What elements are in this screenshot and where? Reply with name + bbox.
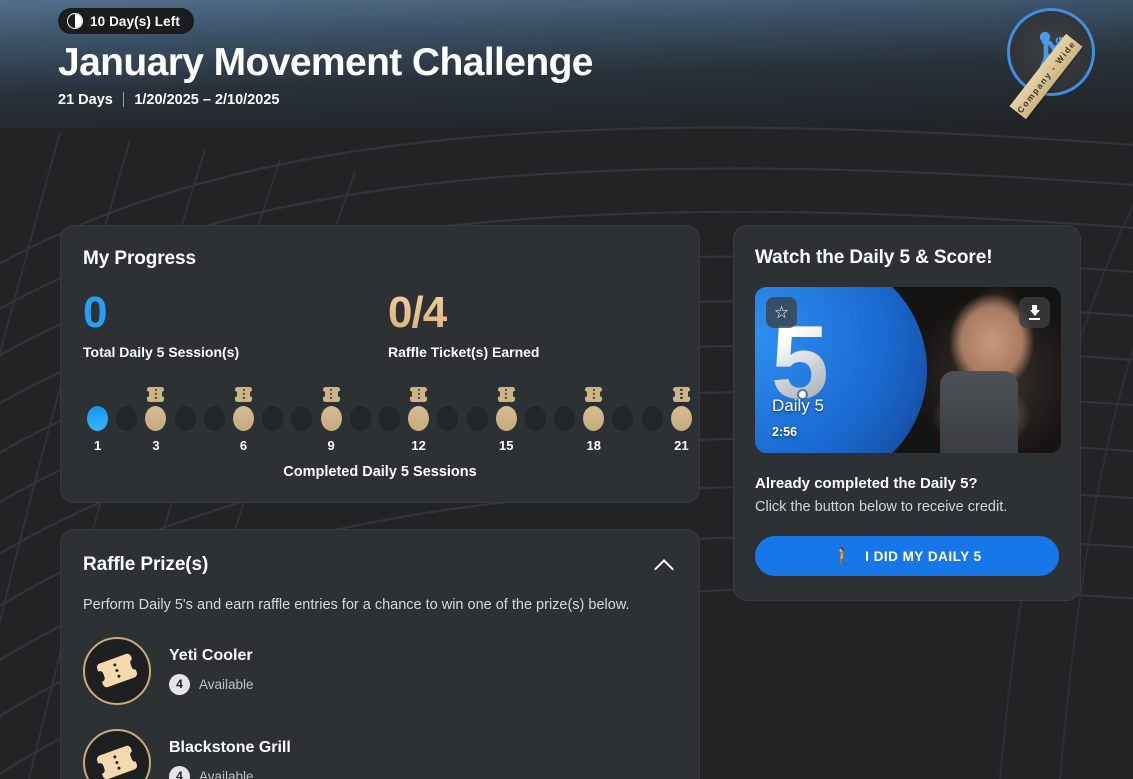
- milestone-ticket-icon: [323, 387, 340, 402]
- chevron-up-icon[interactable]: [651, 552, 677, 578]
- milestone-ticket-icon: [498, 387, 515, 402]
- prize-count-badge: 4: [169, 766, 190, 779]
- session-number-label: 1: [94, 438, 101, 453]
- sessions-label: Total Daily 5 Session(s): [83, 344, 388, 360]
- video-duration: 2:56: [772, 425, 797, 439]
- sessions-value: 0: [83, 292, 388, 334]
- session-number-label: 3: [152, 438, 159, 453]
- session-number-row: 1.3..6..9..12..15..18..21: [83, 438, 677, 453]
- challenge-duration: 21 Days: [58, 92, 113, 108]
- challenge-page: 10 Day(s) Left January Movement Challeng…: [0, 0, 1133, 779]
- prize-info: Blackstone Grill4Available: [169, 739, 291, 779]
- raffle-ticket-icon: [96, 745, 138, 779]
- session-dot: [554, 406, 575, 431]
- progress-track: 1.3..6..9..12..15..18..21 Completed Dail…: [83, 382, 677, 480]
- video-label: Daily 5: [772, 396, 824, 416]
- challenge-meta: 21 Days 1/20/2025 – 2/10/2025: [58, 92, 1133, 108]
- tickets-value: 0/4: [388, 292, 539, 334]
- prize-availability: 4Available: [169, 766, 291, 779]
- days-left-label: 10 Day(s) Left: [90, 14, 180, 29]
- session-dot: [116, 406, 137, 431]
- session-dot: [233, 406, 254, 431]
- prize-availability-label: Available: [199, 677, 254, 692]
- left-column: My Progress 0 Total Daily 5 Session(s) 0…: [60, 225, 700, 779]
- session-dot: [204, 406, 225, 431]
- my-progress-title: My Progress: [83, 248, 677, 270]
- session-dot: [583, 406, 604, 431]
- raffle-title: Raffle Prize(s): [83, 554, 208, 576]
- raffle-ticket-icon: [96, 653, 138, 689]
- session-dot: [262, 406, 283, 431]
- challenge-logo-badge: Company - Wide: [1007, 8, 1095, 96]
- raffle-header[interactable]: Raffle Prize(s): [83, 552, 677, 578]
- prize-medal: [83, 637, 151, 705]
- my-progress-card: My Progress 0 Total Daily 5 Session(s) 0…: [60, 225, 700, 503]
- session-number-label: 6: [240, 438, 247, 453]
- download-icon[interactable]: [1019, 297, 1050, 328]
- raffle-description: Perform Daily 5's and earn raffle entrie…: [83, 597, 677, 613]
- prize-availability: 4Available: [169, 674, 254, 695]
- session-number-label: 21: [674, 438, 688, 453]
- session-dot: [525, 406, 546, 431]
- session-number-label: 9: [327, 438, 334, 453]
- download-glyph: [1027, 305, 1042, 320]
- session-dot: [379, 406, 400, 431]
- milestone-ticket-icon: [410, 387, 427, 402]
- session-dot: [408, 406, 429, 431]
- progress-stats: 0 Total Daily 5 Session(s) 0/4 Raffle Ti…: [83, 292, 677, 360]
- prize-count-badge: 4: [169, 674, 190, 695]
- watch-question: Already completed the Daily 5?: [755, 475, 1059, 492]
- milestone-ticket-row: [83, 382, 677, 402]
- session-dot-row: [83, 406, 677, 431]
- page-header: 10 Day(s) Left January Movement Challeng…: [0, 0, 1133, 128]
- prize-list-item: Yeti Cooler4Available: [83, 637, 677, 705]
- prize-list-item: Blackstone Grill4Available: [83, 729, 677, 779]
- raffle-prizes-card: Raffle Prize(s) Perform Daily 5's and ea…: [60, 529, 700, 779]
- session-dot: [642, 406, 663, 431]
- prize-medal: [83, 729, 151, 779]
- session-dot: [350, 406, 371, 431]
- session-dot: [321, 406, 342, 431]
- walking-person-icon: 🚶: [832, 548, 854, 565]
- milestone-ticket-icon: [147, 387, 164, 402]
- page-title: January Movement Challenge: [58, 43, 1133, 84]
- session-dot: [437, 406, 458, 431]
- star-glyph: ☆: [774, 304, 789, 321]
- prize-availability-label: Available: [199, 769, 254, 779]
- prize-list: Yeti Cooler4AvailableBlackstone Grill4Av…: [83, 637, 677, 779]
- session-dot: [87, 406, 108, 431]
- session-dot: [291, 406, 312, 431]
- moon-phase-icon: [67, 13, 83, 29]
- milestone-ticket-icon: [235, 387, 252, 402]
- meta-divider: [123, 92, 125, 107]
- session-dot: [612, 406, 633, 431]
- session-dot: [496, 406, 517, 431]
- session-dot: [175, 406, 196, 431]
- tickets-label: Raffle Ticket(s) Earned: [388, 344, 539, 360]
- milestone-ticket-icon: [585, 387, 602, 402]
- tickets-stat: 0/4 Raffle Ticket(s) Earned: [388, 292, 539, 360]
- session-dot: [467, 406, 488, 431]
- session-number-label: 15: [499, 438, 513, 453]
- daily5-button-label: I DID MY DAILY 5: [865, 549, 982, 564]
- days-left-badge: 10 Day(s) Left: [58, 8, 194, 34]
- watch-instruction: Click the button below to receive credit…: [755, 499, 1059, 515]
- right-column: Watch the Daily 5 & Score! 5 Daily 5 2:5…: [733, 225, 1081, 779]
- session-number-label: 18: [587, 438, 601, 453]
- session-dot: [145, 406, 166, 431]
- milestone-ticket-icon: [673, 387, 690, 402]
- sessions-stat: 0 Total Daily 5 Session(s): [83, 292, 388, 360]
- prize-name: Yeti Cooler: [169, 647, 254, 665]
- session-number-label: 12: [411, 438, 425, 453]
- i-did-my-daily-5-button[interactable]: 🚶 I DID MY DAILY 5: [755, 536, 1059, 576]
- daily5-video-thumbnail[interactable]: 5 Daily 5 2:56 ☆: [755, 287, 1061, 453]
- star-icon[interactable]: ☆: [766, 297, 797, 328]
- prize-name: Blackstone Grill: [169, 739, 291, 757]
- main-content: My Progress 0 Total Daily 5 Session(s) 0…: [0, 128, 1133, 779]
- challenge-date-range: 1/20/2025 – 2/10/2025: [134, 92, 279, 108]
- watch-daily5-card: Watch the Daily 5 & Score! 5 Daily 5 2:5…: [733, 225, 1081, 601]
- prize-info: Yeti Cooler4Available: [169, 647, 254, 695]
- track-caption: Completed Daily 5 Sessions: [83, 464, 677, 480]
- session-dot: [671, 406, 692, 431]
- watch-title: Watch the Daily 5 & Score!: [755, 247, 1059, 269]
